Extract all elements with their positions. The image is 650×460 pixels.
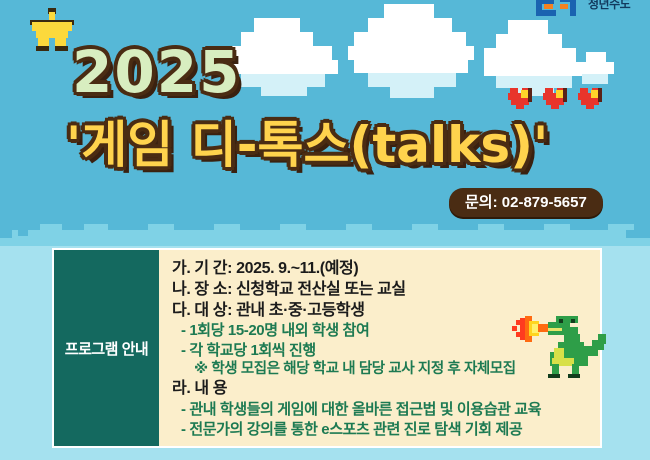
poster-year: 2025 (72, 38, 241, 106)
contact-badge[interactable]: 문의: 02-879-5657 (449, 188, 603, 217)
pixel-cloud-icon (348, 4, 480, 100)
pixel-star-icon (30, 8, 76, 52)
pixel-dragon-icon (512, 312, 608, 384)
info-row: - 관내 학생들의 게임에 대한 올바른 접근법 및 이용습관 교육 (172, 400, 600, 420)
pixel-cloud-icon (576, 52, 616, 86)
info-row: 나. 장 소: 신청학교 전산실 또는 교실 (172, 280, 600, 301)
logo-text: 청년수도 (588, 0, 630, 12)
poster-canvas: 청년수도 2025 '게임 디-톡스(talks)' 문의: 02-879-56… (0, 0, 650, 460)
organization-logo: 청년수도 (536, 0, 646, 20)
info-row: 가. 기 간: 2025. 9.~11.(예정) (172, 259, 600, 280)
panel-label: 프로그램 안내 (54, 250, 161, 446)
pixel-horizon-band (0, 216, 650, 246)
pixel-cloud-icon (228, 18, 350, 96)
logo-mark-icon (536, 0, 582, 16)
poster-title: '게임 디-톡스(talks)' (66, 105, 626, 177)
info-row: - 전문가의 강의를 통한 e스포츠 관련 진로 탐색 기회 제공 (172, 420, 600, 440)
